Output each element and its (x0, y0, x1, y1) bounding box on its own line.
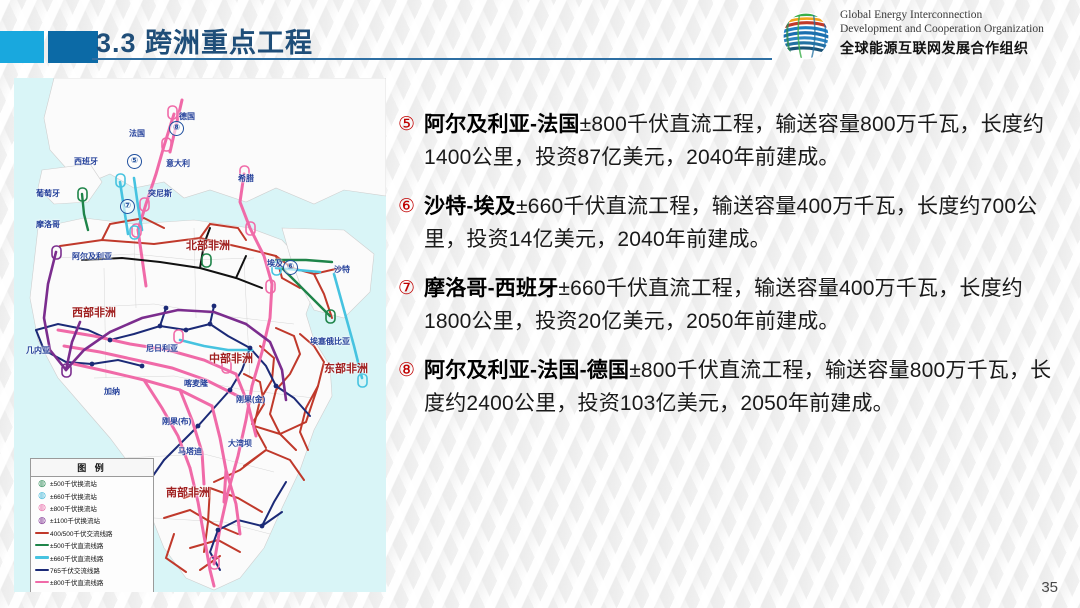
transmission-line-icon (34, 569, 50, 571)
legend-item: ◍±500千伏换流站 (31, 477, 153, 489)
legend-item: 1000千伏交流线路 (31, 589, 153, 592)
project-item-detail: ±660千伏直流工程，输送容量400万千瓦，长度约700公里，投资14亿美元，2… (424, 195, 1037, 251)
globe-icon (780, 10, 832, 62)
legend-item: 765千伏交流线路 (31, 564, 153, 576)
logo-chinese-name: 全球能源互联网发展合作组织 (840, 38, 1070, 58)
project-item-number: ⑤ (398, 108, 424, 174)
legend-item-label: 1000千伏交流线路 (50, 590, 103, 592)
project-item-name: 沙特-埃及 (424, 195, 516, 218)
map-legend: 图 例 ◍±500千伏换流站◍±660千伏换流站◍±800千伏换流站◍±1100… (30, 458, 154, 592)
transmission-line-icon (34, 556, 50, 558)
project-item: ⑦摩洛哥-西班牙±660千伏直流工程，输送容量400万千瓦，长度约1800公里，… (398, 272, 1060, 338)
header-accent-block-light (0, 31, 44, 63)
legend-item-label: 400/500千伏交流线路 (50, 528, 113, 538)
map-region-label: 摩洛哥 (36, 219, 60, 230)
map-region-label: 埃塞俄比亚 (310, 336, 350, 347)
map-region-label: 埃及 (267, 258, 283, 269)
legend-item-label: ±500千伏换流站 (50, 478, 97, 488)
legend-item: ◍±660千伏换流站 (31, 489, 153, 501)
legend-item: 400/500千伏交流线路 (31, 527, 153, 539)
legend-item-label: ±660千伏直流线路 (50, 553, 103, 563)
legend-item: ±660千伏直流线路 (31, 551, 153, 563)
map-region-label: 马塔迪 (178, 446, 202, 457)
legend-item-label: ±1100千伏换流站 (50, 515, 100, 525)
legend-title: 图 例 (31, 459, 153, 477)
project-item-number: ⑧ (398, 354, 424, 420)
map-region-label: 中部非洲 (209, 350, 253, 366)
project-item-number: ⑦ (398, 272, 424, 338)
converter-station-icon: ◍ (34, 516, 50, 525)
map-project-marker[interactable]: ⑦ (120, 199, 135, 214)
project-item-number: ⑥ (398, 190, 424, 256)
map-region-label: 刚果(金) (236, 394, 265, 405)
project-item-text: 阿尔及利亚-法国±800千伏直流工程，输送容量800万千瓦，长度约1400公里，… (424, 108, 1060, 174)
map-region-label: 喀麦隆 (184, 378, 208, 389)
project-list: ⑤阿尔及利亚-法国±800千伏直流工程，输送容量800万千瓦，长度约1400公里… (398, 108, 1060, 436)
title-underline (92, 58, 772, 60)
legend-item-label: ±800千伏换流站 (50, 503, 97, 513)
map-project-marker[interactable]: ⑧ (169, 121, 184, 136)
project-item: ⑥沙特-埃及±660千伏直流工程，输送容量400万千瓦，长度约700公里，投资1… (398, 190, 1060, 256)
map-region-label: 北部非洲 (186, 237, 230, 253)
map-region-label: 尼日利亚 (146, 343, 178, 354)
transmission-line-icon (34, 532, 50, 534)
legend-item: ◍±800千伏换流站 (31, 502, 153, 514)
map-region-label: 刚果(布) (162, 416, 191, 427)
page-title: 3.3 跨洲重点工程 (96, 21, 313, 60)
project-item-text: 摩洛哥-西班牙±660千伏直流工程，输送容量400万千瓦，长度约1800公里，投… (424, 272, 1060, 338)
map-project-marker[interactable]: ⑥ (283, 260, 298, 275)
map-region-label: 几内亚 (26, 345, 50, 356)
map-region-label: 南部非洲 (166, 484, 210, 500)
page-number: 35 (1041, 579, 1058, 596)
africa-europe-grid-map[interactable]: 德国法国西班牙意大利葡萄牙摩洛哥突尼斯希腊阿尔及利亚北部非洲埃及沙特西部非洲几内… (14, 78, 386, 592)
map-region-label: 德国 (179, 111, 195, 122)
map-region-label: 大湾坝 (228, 438, 252, 449)
transmission-line-icon (34, 581, 50, 583)
converter-station-icon: ◍ (34, 479, 50, 488)
project-item: ⑤阿尔及利亚-法国±800千伏直流工程，输送容量800万千瓦，长度约1400公里… (398, 108, 1060, 174)
map-region-label: 沙特 (334, 264, 350, 275)
project-item-text: 阿尔及利亚-法国-德国±800千伏直流工程，输送容量800万千瓦，长度约2400… (424, 354, 1060, 420)
converter-station-icon: ◍ (34, 503, 50, 512)
legend-rows: ◍±500千伏换流站◍±660千伏换流站◍±800千伏换流站◍±1100千伏换流… (31, 477, 153, 592)
map-region-label: 加纳 (104, 386, 120, 397)
converter-station-icon: ◍ (34, 491, 50, 500)
transmission-line-icon (34, 544, 50, 546)
map-region-label: 希腊 (238, 173, 254, 184)
logo-english-line-2: Development and Cooperation Organization (840, 22, 1070, 36)
map-region-label: 西班牙 (74, 156, 98, 167)
map-region-label: 东部非洲 (324, 360, 368, 376)
map-region-label: 意大利 (166, 158, 190, 169)
map-project-marker[interactable]: ⑤ (127, 154, 142, 169)
legend-item-label: ±500千伏直流线路 (50, 540, 103, 550)
map-region-label: 法国 (129, 128, 145, 139)
logo-english-line-1: Global Energy Interconnection (840, 8, 1070, 22)
legend-item-label: ±660千伏换流站 (50, 491, 97, 501)
legend-item: ±800千伏直流线路 (31, 576, 153, 588)
header-accent-block-dark (48, 31, 98, 63)
legend-item-label: 765千伏交流线路 (50, 565, 100, 575)
project-item-name: 摩洛哥-西班牙 (424, 277, 558, 300)
project-item: ⑧阿尔及利亚-法国-德国±800千伏直流工程，输送容量800万千瓦，长度约240… (398, 354, 1060, 420)
project-item-name: 阿尔及利亚-法国 (424, 113, 580, 136)
map-region-label: 西部非洲 (72, 304, 116, 320)
project-item-name: 阿尔及利亚-法国-德国 (424, 359, 629, 382)
project-item-text: 沙特-埃及±660千伏直流工程，输送容量400万千瓦，长度约700公里，投资14… (424, 190, 1060, 256)
organization-logo: Global Energy Interconnection Developmen… (780, 8, 1070, 64)
map-region-label: 阿尔及利亚 (72, 251, 112, 262)
legend-item: ±500千伏直流线路 (31, 539, 153, 551)
legend-item-label: ±800千伏直流线路 (50, 577, 103, 587)
legend-item: ◍±1100千伏换流站 (31, 514, 153, 526)
map-region-label: 突尼斯 (148, 188, 172, 199)
map-region-label: 葡萄牙 (36, 188, 60, 199)
